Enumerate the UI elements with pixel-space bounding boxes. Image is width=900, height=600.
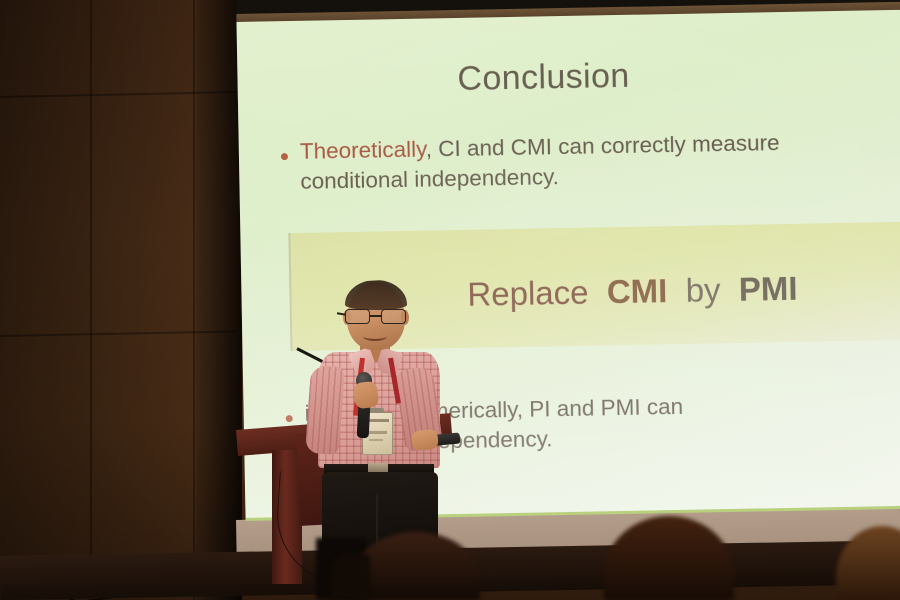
bullet-1-emphasis: Theoretically — [300, 137, 426, 164]
speaker-figure — [300, 282, 460, 572]
glasses-bridge — [370, 315, 381, 317]
banner-word-cmi: CMI — [606, 272, 667, 310]
conference-photo-scene: Conclusion Theoretically, CI and CMI can… — [0, 0, 900, 600]
audience-head — [330, 554, 370, 600]
glasses-icon — [344, 309, 408, 325]
slide-bullet-1: Theoretically, CI and CMI can correctly … — [281, 125, 900, 197]
badge-line — [369, 431, 387, 434]
bullet-1-line2: conditional independency. — [300, 164, 559, 194]
left-arm — [305, 365, 345, 455]
glasses-temple — [337, 312, 346, 315]
hand-holding-remote — [411, 429, 439, 452]
bullet-1-text: Theoretically, CI and CMI can correctly … — [300, 128, 781, 197]
slide-title: Conclusion — [237, 52, 900, 103]
wall-seam — [90, 0, 92, 600]
smile — [363, 332, 387, 341]
banner-word-replace: Replace — [467, 274, 589, 313]
lens-right — [381, 309, 406, 324]
bullet-dot-icon — [281, 153, 288, 160]
bullet-dot-icon — [286, 415, 293, 422]
wall-seam — [193, 0, 195, 600]
hair — [345, 280, 407, 310]
banner-word-pmi: PMI — [739, 270, 798, 308]
banner-word-by: by — [685, 271, 721, 309]
lens-left — [345, 309, 370, 324]
badge-line — [367, 419, 389, 422]
badge-line — [369, 439, 383, 441]
hand-holding-microphone — [352, 380, 379, 409]
bullet-1-line1-rest: , CI and CMI can correctly measure — [425, 130, 779, 161]
